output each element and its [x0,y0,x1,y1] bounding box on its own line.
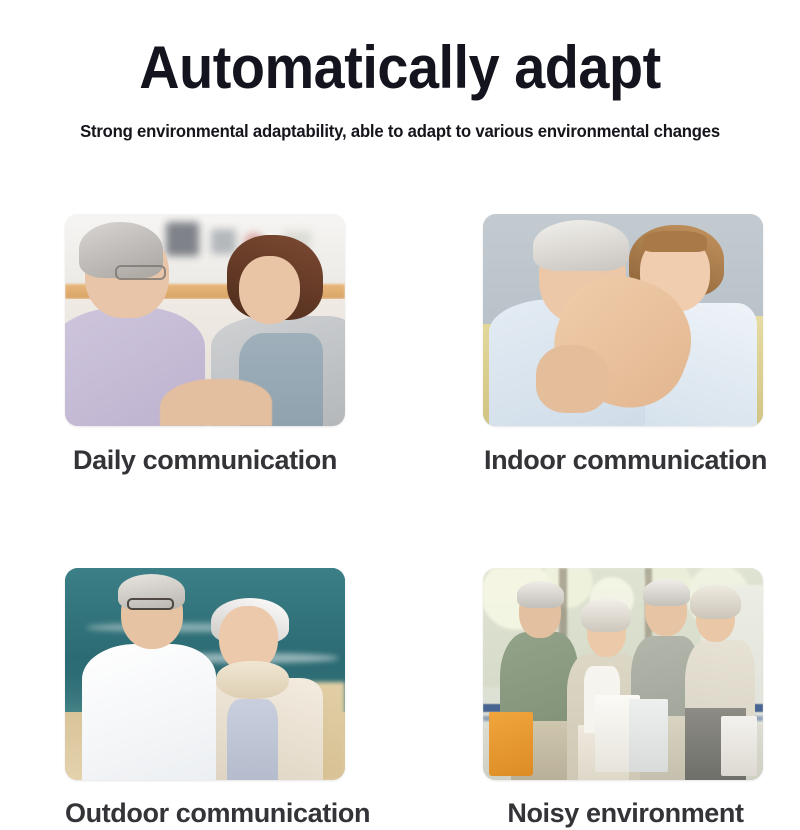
card-caption-indoor-communication: Indoor communication [483,443,768,477]
feature-cell-indoor-communication: Indoor communication [483,214,800,477]
infographic-page: Automatically adapt Strong environmental… [0,0,800,800]
photo-grandfather-and-granddaughter [483,214,763,426]
photo-senior-couple-talking [65,214,345,426]
photo-seniors-shopping-outdoors [483,568,763,780]
photo-senior-couple-on-beach [65,568,345,780]
card-caption-daily-communication: Daily communication [65,443,345,477]
photo-card-noisy-environment [483,568,763,780]
photo-card-indoor-communication [483,214,763,426]
card-caption-noisy-environment: Noisy environment [483,796,768,830]
header: Automatically adapt Strong environmental… [0,0,800,142]
feature-cell-daily-communication: Daily communication [65,214,447,477]
page-title: Automatically adapt [28,38,772,98]
feature-cell-outdoor-communication: Outdoor communication [65,477,447,830]
feature-grid: Daily communication [0,214,800,830]
photo-card-daily-communication [65,214,345,426]
photo-card-outdoor-communication [65,568,345,780]
page-subtitle: Strong environmental adaptability, able … [12,120,788,142]
feature-cell-noisy-environment: Noisy environment [483,477,800,830]
card-caption-outdoor-communication: Outdoor communication [65,796,345,830]
